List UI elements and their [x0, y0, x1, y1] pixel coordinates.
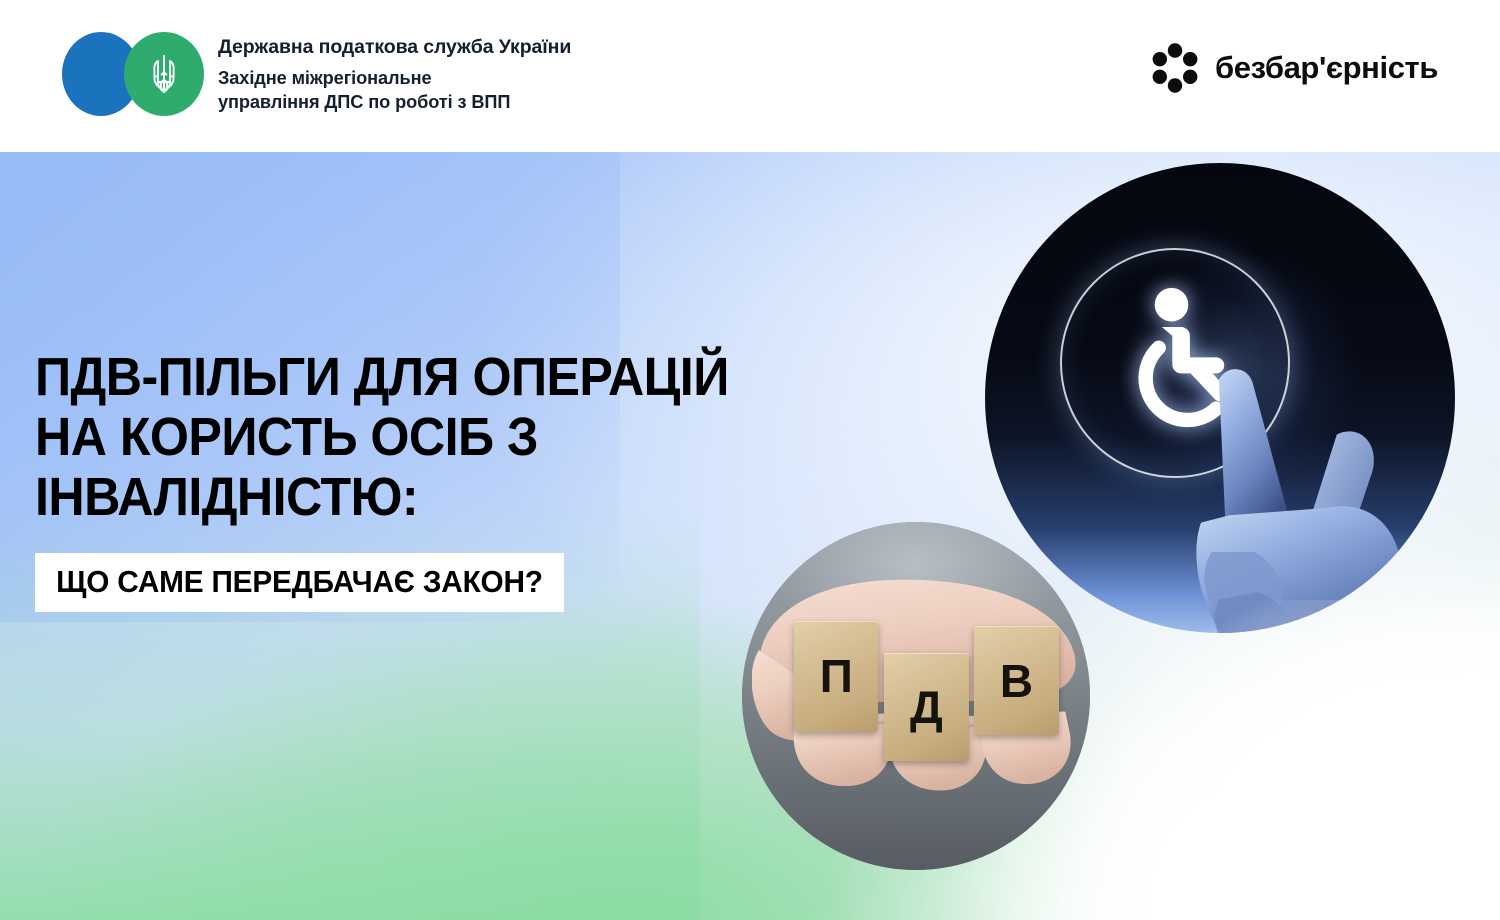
title-line: ІНВАЛІДНІСТЮ: [35, 468, 872, 528]
pointing-hand [1126, 332, 1455, 633]
org-line-1: Державна податкова служба України [218, 34, 571, 60]
header-bar: Державна податкова служба України Західн… [0, 0, 1500, 152]
hero-text: ПДВ-ПІЛЬГИ ДЛЯ ОПЕРАЦІЙ НА КОРИСТЬ ОСІБ … [35, 348, 935, 612]
page-title: ПДВ-ПІЛЬГИ ДЛЯ ОПЕРАЦІЙ НА КОРИСТЬ ОСІБ … [35, 348, 935, 528]
wooden-blocks: П Д В [794, 637, 1058, 741]
block-letter: П [794, 621, 878, 732]
block-letter: Д [884, 653, 968, 762]
dps-logo [62, 32, 202, 116]
bezbarjernist-brand: безбар'єрність [1149, 42, 1438, 94]
title-line: НА КОРИСТЬ ОСІБ З [35, 408, 872, 468]
title-line: ПДВ-ПІЛЬГИ ДЛЯ ОПЕРАЦІЙ [35, 348, 872, 408]
org-line-2: Західне міжрегіональне [218, 66, 571, 90]
six-dots-flower-icon [1149, 42, 1201, 94]
subtitle-banner: ЩО САМЕ ПЕРЕДБАЧАЄ ЗАКОН? [35, 553, 564, 612]
subtitle-wrap: ЩО САМЕ ПЕРЕДБАЧАЄ ЗАКОН? [35, 553, 586, 612]
organization-name: Державна податкова служба України Західн… [218, 34, 571, 114]
block-letter: В [974, 626, 1058, 735]
organization-branding: Державна податкова служба України Західн… [62, 32, 571, 116]
bezbarjernist-label: безбар'єрність [1215, 50, 1438, 86]
poster-canvas: Державна податкова служба України Західн… [0, 0, 1500, 920]
ukraine-trident-icon [124, 32, 204, 116]
org-line-3: управління ДПС по роботі з ВПП [218, 90, 571, 114]
